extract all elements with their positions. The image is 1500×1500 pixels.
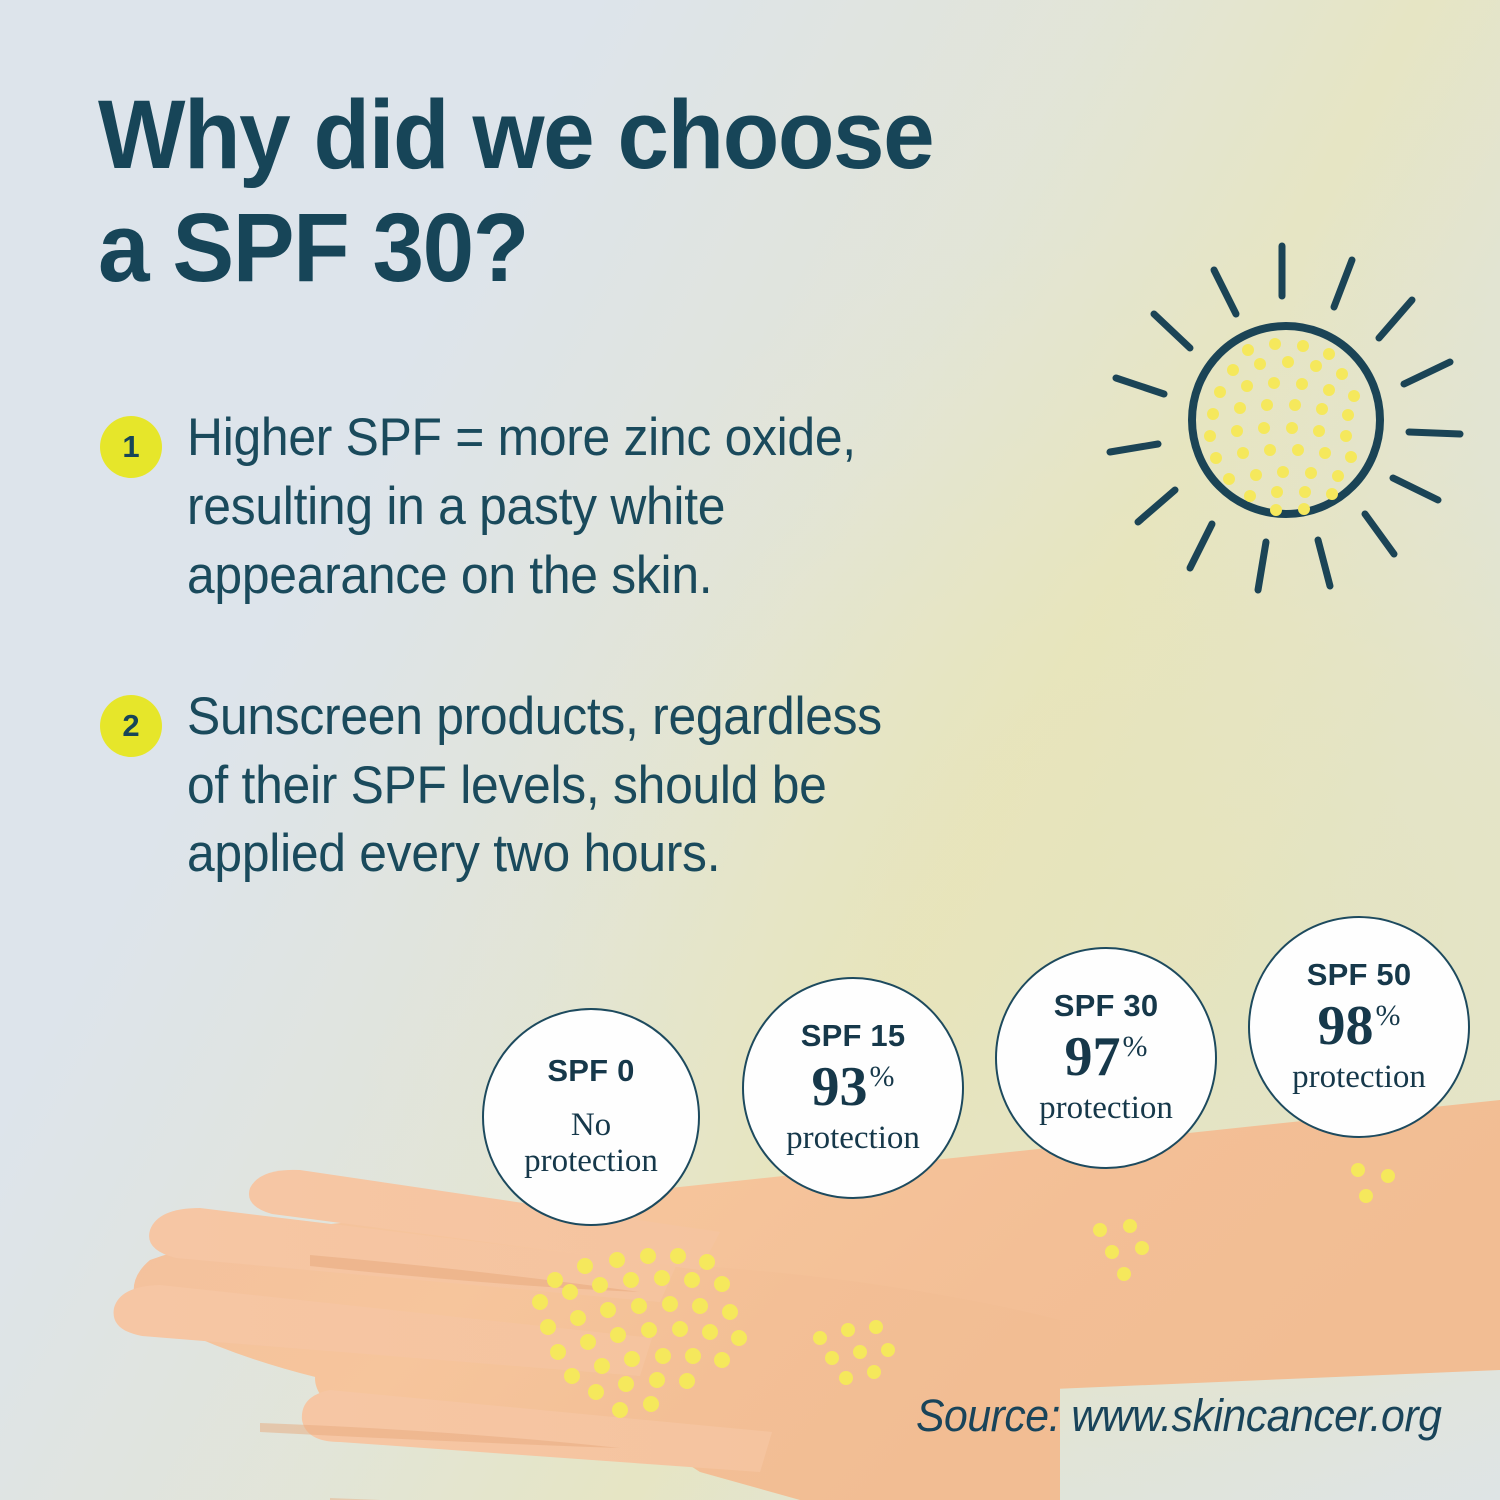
infographic-poster: Why did we choose a SPF 30? bbox=[0, 0, 1500, 1500]
spf-percent-value: 97 bbox=[1065, 1029, 1121, 1085]
list-item-text-1: Higher SPF = more zinc oxide, resulting … bbox=[187, 404, 1130, 611]
spf-percent: 93 % bbox=[812, 1059, 895, 1115]
spf-circle-30: SPF 30 97 % protection bbox=[995, 947, 1217, 1169]
sun-disc-outline bbox=[1192, 326, 1380, 514]
spf-percent-value: 98 bbox=[1318, 998, 1374, 1054]
spf-label: SPF 0 bbox=[547, 1055, 634, 1086]
list-item: 2 Sunscreen products, regardless of thei… bbox=[100, 683, 1190, 890]
source-citation: Source: www.skincancer.org bbox=[916, 1390, 1441, 1442]
spf-label: SPF 15 bbox=[801, 1020, 906, 1051]
spf-sublabel: No protection bbox=[524, 1108, 658, 1179]
spf-percent-sign: % bbox=[870, 1062, 895, 1092]
spf-label: SPF 50 bbox=[1307, 959, 1412, 990]
numbered-list: 1 Higher SPF = more zinc oxide, resultin… bbox=[100, 404, 1190, 961]
spf-percent-value: 93 bbox=[812, 1059, 868, 1115]
spf-percent-sign: % bbox=[1123, 1032, 1148, 1062]
list-item-text-2: Sunscreen products, regardless of their … bbox=[187, 683, 1130, 890]
spf-sublabel: protection bbox=[1292, 1060, 1426, 1096]
spf-circle-15: SPF 15 93 % protection bbox=[742, 977, 964, 1199]
spf-label: SPF 30 bbox=[1054, 990, 1159, 1021]
page-title: Why did we choose a SPF 30? bbox=[98, 78, 1110, 305]
list-marker-2: 2 bbox=[100, 695, 162, 757]
spf-percent: 97 % bbox=[1065, 1029, 1148, 1085]
spf-sublabel: protection bbox=[1039, 1091, 1173, 1127]
list-item: 1 Higher SPF = more zinc oxide, resultin… bbox=[100, 404, 1190, 611]
spf-percent-sign: % bbox=[1376, 1001, 1401, 1031]
list-marker-1: 1 bbox=[100, 416, 162, 478]
spf-percent: 98 % bbox=[1318, 998, 1401, 1054]
spf-circle-50: SPF 50 98 % protection bbox=[1248, 916, 1470, 1138]
spf-circle-0: SPF 0 No protection bbox=[482, 1008, 700, 1226]
spf-sublabel: protection bbox=[786, 1121, 920, 1157]
